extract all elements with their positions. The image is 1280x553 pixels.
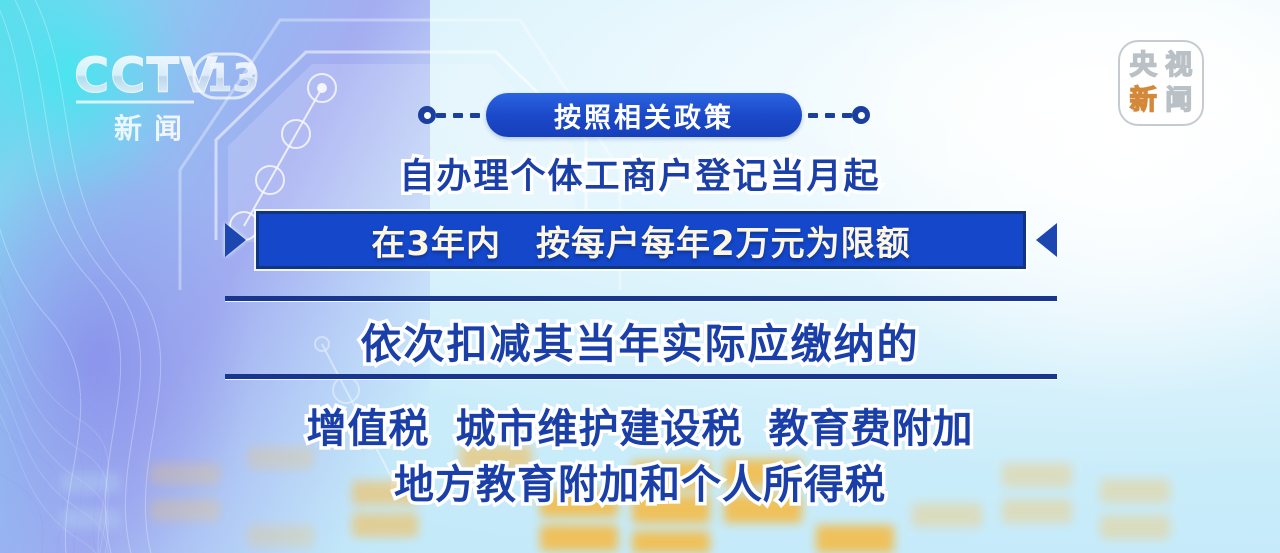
logo-char-yang: 央 — [1126, 48, 1161, 83]
triangle-left-icon — [1036, 223, 1057, 257]
svg-text:CCTV: CCTV — [74, 48, 218, 104]
tax-item-education-surcharge: 教育费附加 — [769, 406, 974, 452]
logo-char-wen: 闻 — [1162, 84, 1197, 119]
dashed-connector-right-icon — [808, 113, 852, 118]
highlight-bar-text: 在3年内 按每户每年2万元为限额 — [371, 216, 910, 265]
tax-item-city-maintenance: 城市维护建设税 — [456, 406, 743, 452]
divider-bottom — [225, 374, 1057, 379]
tax-list-line-1: 增值税城市维护建设税教育费附加 — [0, 396, 1280, 454]
logo-char-xin: 新 — [1126, 84, 1161, 119]
headline-line-2: 自办理个体工商户登记当月起 — [0, 148, 1280, 199]
tax-item-vat: 增值税 — [307, 406, 430, 452]
policy-badge-label: 按照相关政策 — [554, 96, 734, 135]
policy-badge-row: 按照相关政策 — [418, 93, 870, 137]
connector-dot-left-icon — [418, 106, 436, 124]
headline-line-4: 依次扣减其当年实际应缴纳的 — [0, 310, 1280, 370]
cctv-13-logo: CCTV 13 新闻 — [74, 48, 284, 144]
svg-text:13: 13 — [206, 56, 259, 100]
broadcast-graphic: CCTV 13 新闻 央 视 新 闻 按照相关政策 自办理个体工商户登记当月起 … — [0, 0, 1280, 553]
logo-char-shi: 视 — [1162, 48, 1197, 83]
highlight-bar: 在3年内 按每户每年2万元为限额 — [256, 211, 1026, 269]
svg-text:新闻: 新闻 — [114, 112, 194, 144]
yangshi-news-logo: 央 视 新 闻 — [1118, 40, 1204, 126]
highlight-bar-row: 在3年内 按每户每年2万元为限额 — [225, 208, 1057, 272]
tax-list-line-2: 地方教育附加和个人所得税 — [0, 452, 1280, 510]
connector-dot-right-icon — [852, 106, 870, 124]
divider-top — [225, 296, 1057, 301]
dashed-connector-left-icon — [436, 113, 480, 118]
policy-badge: 按照相关政策 — [486, 93, 802, 137]
triangle-right-icon — [225, 223, 246, 257]
